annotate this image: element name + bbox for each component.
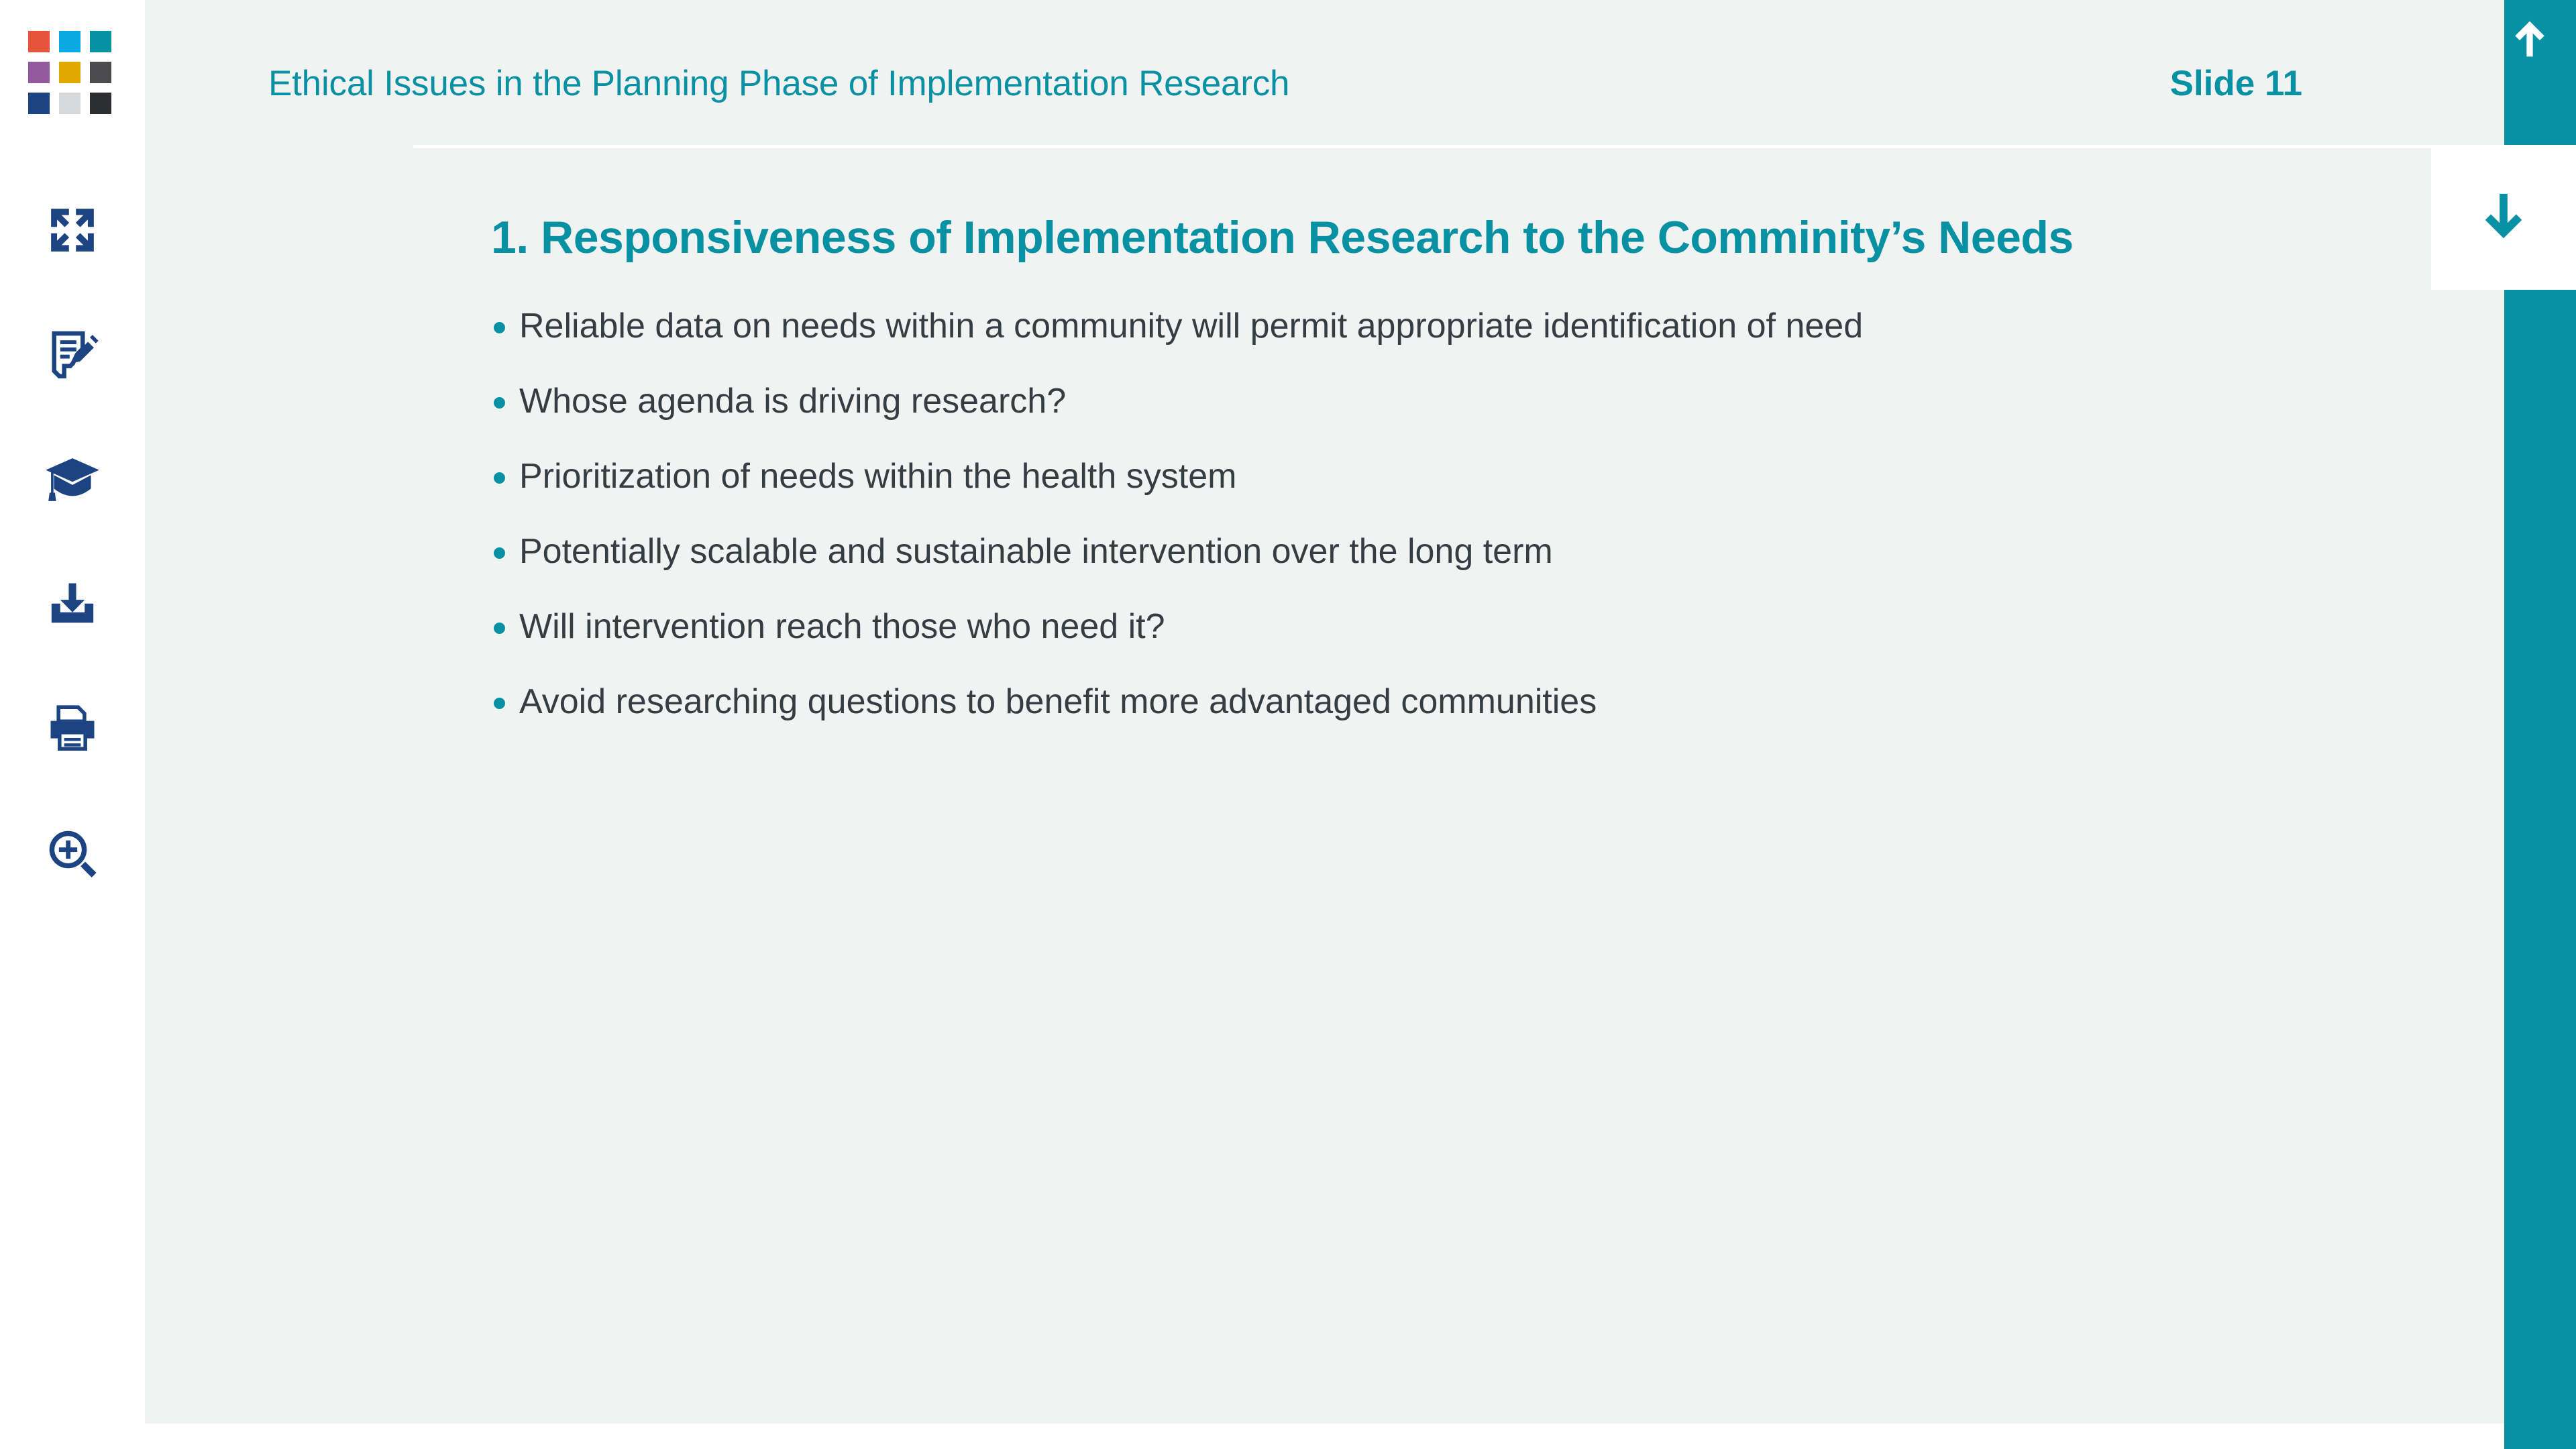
download-icon [46, 578, 99, 631]
slide-content: 1. Responsiveness of Implementation Rese… [491, 201, 2436, 755]
left-toolbar [0, 0, 145, 1449]
previous-slide-button[interactable] [2493, 7, 2565, 74]
logo-swatch-lightgray [59, 93, 80, 114]
download-button[interactable] [0, 542, 145, 667]
header-divider [413, 145, 2447, 148]
list-item: Will intervention reach those who need i… [491, 605, 2436, 648]
logo-swatch-navy [28, 93, 50, 114]
slide-canvas: Ethical Issues in the Planning Phase of … [145, 0, 2504, 1424]
logo-swatch-darkgray [90, 62, 111, 83]
print-button[interactable] [0, 667, 145, 792]
logo-swatch-orange [28, 31, 50, 52]
fullscreen-icon [46, 204, 99, 256]
fullscreen-button[interactable] [0, 168, 145, 292]
slide-bullet-list: Reliable data on needs within a communit… [491, 305, 2436, 723]
arrow-down-icon [2477, 190, 2530, 246]
slide-number-label: Slide 11 [2170, 63, 2302, 104]
list-item: Whose agenda is driving research? [491, 380, 2436, 423]
graduation-cap-icon [44, 451, 101, 508]
slide-heading: 1. Responsiveness of Implementation Rese… [491, 201, 2114, 274]
list-item: Prioritization of needs within the healt… [491, 455, 2436, 498]
document-title: Ethical Issues in the Planning Phase of … [268, 63, 1289, 104]
list-item: Avoid researching questions to benefit m… [491, 680, 2436, 723]
logo-swatch-teal [90, 31, 111, 52]
logo-swatch-lightblue [59, 31, 80, 52]
list-item: Potentially scalable and sustainable int… [491, 530, 2436, 573]
notes-button[interactable] [0, 292, 145, 417]
slide-header: Ethical Issues in the Planning Phase of … [268, 58, 2302, 125]
next-slide-button[interactable] [2431, 145, 2576, 290]
logo-swatch-purple [28, 62, 50, 83]
toolbar-button-list [0, 168, 145, 916]
document-viewer-app: Ethical Issues in the Planning Phase of … [0, 0, 2576, 1449]
document-edit-icon [46, 329, 99, 381]
arrow-up-icon [2509, 18, 2551, 63]
logo-swatch-black [90, 93, 111, 114]
list-item: Reliable data on needs within a communit… [491, 305, 2436, 347]
course-button[interactable] [0, 417, 145, 542]
zoom-in-button[interactable] [0, 792, 145, 916]
logo-swatch-gold [59, 62, 80, 83]
color-grid-logo [28, 31, 111, 114]
print-icon [46, 703, 99, 755]
zoom-in-icon [46, 828, 99, 880]
